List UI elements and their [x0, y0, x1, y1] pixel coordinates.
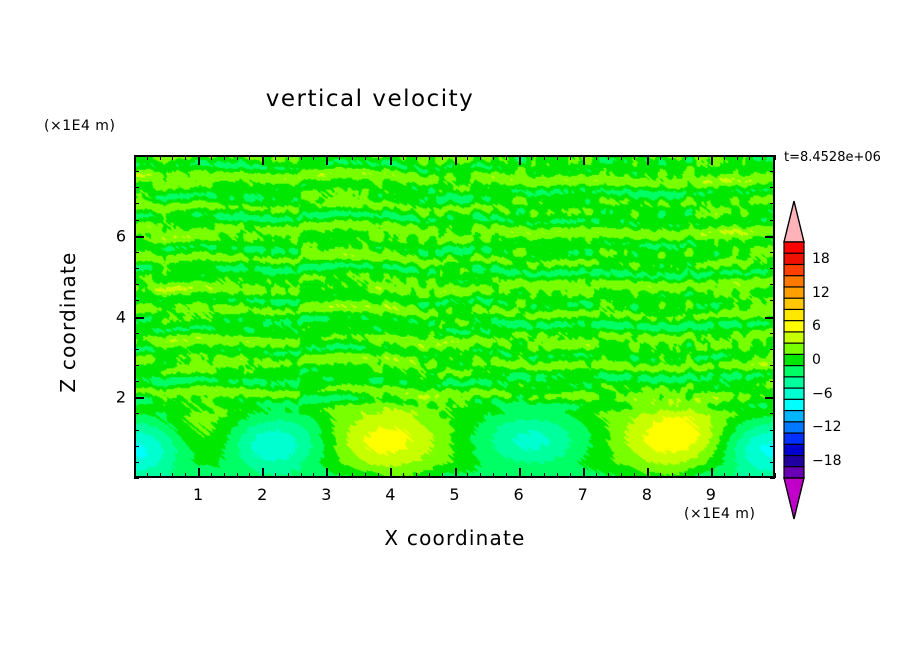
axis-tick: [211, 473, 212, 478]
colorbar-tick-label: 18: [812, 251, 830, 267]
axis-tick: [455, 468, 457, 478]
axis-tick: [770, 478, 775, 479]
axis-tick: [775, 155, 776, 160]
axis-tick: [724, 473, 725, 478]
axis-tick: [770, 171, 775, 172]
page-title: vertical velocity: [0, 86, 740, 112]
axis-tick: [134, 236, 144, 238]
x-tick-label: 5: [449, 485, 459, 504]
axis-tick: [770, 220, 775, 221]
colorbar-tick-label: 0: [812, 352, 821, 368]
axis-tick: [134, 413, 139, 414]
colorbar-band: [784, 366, 804, 378]
axis-tick: [288, 155, 289, 160]
colorbar-band: [784, 354, 804, 366]
axis-tick: [442, 155, 443, 160]
colorbar-tick-label: −18: [812, 453, 842, 469]
axis-tick: [724, 155, 725, 160]
axis-tick: [765, 397, 775, 399]
colorbar-band: [784, 433, 804, 445]
x-tick-label: 4: [385, 485, 395, 504]
axis-tick: [160, 473, 161, 478]
axis-tick: [211, 155, 212, 160]
axis-tick: [262, 155, 264, 165]
axis-tick: [378, 155, 379, 160]
axis-tick: [531, 155, 532, 160]
axis-tick: [172, 155, 173, 160]
axis-tick: [531, 473, 532, 478]
axis-tick: [403, 473, 404, 478]
axis-tick: [390, 468, 392, 478]
axis-tick: [480, 155, 481, 160]
x-axis-title: X coordinate: [255, 526, 655, 550]
colorbar-tick-label: 12: [812, 285, 830, 301]
axis-tick: [544, 473, 545, 478]
axis-tick: [185, 473, 186, 478]
axis-tick: [506, 473, 507, 478]
axis-tick: [326, 468, 328, 478]
plot-area: [134, 155, 775, 478]
axis-tick: [237, 155, 238, 160]
colorbar-band: [784, 309, 804, 321]
x-tick-label: 3: [321, 485, 331, 504]
colorbar: [781, 200, 807, 520]
colorbar-over-arrow: [784, 201, 804, 242]
axis-tick: [365, 473, 366, 478]
axis-tick: [288, 473, 289, 478]
y-tick-label: 2: [106, 388, 126, 407]
axis-tick: [134, 430, 139, 431]
axis-tick: [134, 333, 139, 334]
axis-tick: [698, 473, 699, 478]
axis-tick: [134, 381, 139, 382]
axis-tick: [770, 333, 775, 334]
axis-tick: [134, 268, 139, 269]
axis-tick: [224, 155, 225, 160]
axis-tick: [301, 155, 302, 160]
axis-tick: [249, 155, 250, 160]
axis-tick: [147, 473, 148, 478]
axis-tick: [672, 155, 673, 160]
colorbar-band: [784, 467, 804, 479]
axis-tick: [493, 155, 494, 160]
axis-tick: [134, 155, 135, 160]
colorbar-band: [784, 321, 804, 333]
axis-tick: [429, 155, 430, 160]
y-tick-label: 6: [106, 226, 126, 245]
colorbar-band: [784, 253, 804, 265]
axis-tick: [134, 171, 139, 172]
colorbar-band: [784, 343, 804, 355]
axis-tick: [557, 473, 558, 478]
axis-tick: [621, 473, 622, 478]
axis-tick: [634, 473, 635, 478]
axis-tick: [467, 473, 468, 478]
axis-tick: [467, 155, 468, 160]
axis-tick: [544, 155, 545, 160]
axis-tick: [583, 468, 585, 478]
axis-tick: [442, 473, 443, 478]
colorbar-band: [784, 411, 804, 423]
y-axis-unit-label: (×1E4 m): [44, 118, 115, 134]
axis-tick: [352, 473, 353, 478]
axis-tick: [249, 473, 250, 478]
axis-tick: [275, 155, 276, 160]
axis-tick: [762, 473, 763, 478]
axis-tick: [711, 468, 713, 478]
colorbar-band: [784, 242, 804, 254]
axis-tick: [339, 155, 340, 160]
axis-tick: [134, 220, 139, 221]
axis-tick: [480, 473, 481, 478]
colorbar-band: [784, 422, 804, 434]
axis-tick: [237, 473, 238, 478]
axis-tick: [770, 413, 775, 414]
axis-tick: [134, 446, 139, 447]
axis-tick: [770, 300, 775, 301]
axis-tick: [301, 473, 302, 478]
colorbar-tick-label: −12: [812, 419, 842, 435]
axis-tick: [198, 468, 200, 478]
axis-tick: [160, 155, 161, 160]
x-tick-label: 9: [706, 485, 716, 504]
axis-tick: [596, 473, 597, 478]
axis-tick: [557, 155, 558, 160]
axis-tick: [711, 155, 713, 165]
x-tick-label: 8: [642, 485, 652, 504]
axis-tick: [262, 468, 264, 478]
contour-plot-figure: vertical velocity (×1E4 m) (×1E4 m) X co…: [0, 0, 904, 654]
axis-tick: [770, 203, 775, 204]
axis-tick: [134, 300, 139, 301]
colorbar-under-arrow: [784, 478, 804, 519]
axis-tick: [339, 473, 340, 478]
x-tick-label: 2: [257, 485, 267, 504]
axis-tick: [390, 155, 392, 165]
axis-tick: [770, 381, 775, 382]
axis-tick: [326, 155, 328, 165]
axis-tick: [493, 473, 494, 478]
axis-tick: [134, 317, 144, 319]
axis-tick: [770, 284, 775, 285]
axis-tick: [608, 473, 609, 478]
axis-tick: [685, 473, 686, 478]
axis-tick: [762, 155, 763, 160]
axis-tick: [455, 155, 457, 165]
axis-tick: [147, 155, 148, 160]
axis-tick: [134, 478, 139, 479]
colorbar-band: [784, 264, 804, 276]
colorbar-band: [784, 276, 804, 288]
axis-tick: [634, 155, 635, 160]
axis-tick: [621, 155, 622, 160]
axis-tick: [647, 155, 649, 165]
axis-tick: [749, 473, 750, 478]
axis-tick: [770, 187, 775, 188]
axis-tick: [570, 473, 571, 478]
axis-tick: [749, 155, 750, 160]
x-axis-unit-label: (×1E4 m): [684, 506, 755, 522]
colorbar-band: [784, 388, 804, 400]
axis-tick: [275, 473, 276, 478]
axis-tick: [583, 155, 585, 165]
axis-tick: [770, 462, 775, 463]
axis-tick: [416, 473, 417, 478]
axis-tick: [770, 252, 775, 253]
colorbar-band: [784, 298, 804, 310]
axis-tick: [198, 155, 200, 165]
axis-tick: [378, 473, 379, 478]
axis-tick: [608, 155, 609, 160]
velocity-field-canvas: [136, 157, 773, 476]
axis-tick: [596, 155, 597, 160]
axis-tick: [660, 155, 661, 160]
y-axis-title: Z coordinate: [56, 192, 80, 452]
y-tick-label: 4: [106, 307, 126, 326]
colorbar-tick-label: −6: [812, 386, 833, 402]
colorbar-band: [784, 399, 804, 411]
colorbar-band: [784, 444, 804, 456]
axis-tick: [685, 155, 686, 160]
axis-tick: [765, 236, 775, 238]
axis-tick: [770, 268, 775, 269]
axis-tick: [770, 430, 775, 431]
axis-tick: [519, 468, 521, 478]
time-annotation: t=8.4528e+06: [784, 150, 881, 165]
axis-tick: [775, 473, 776, 478]
axis-tick: [134, 284, 139, 285]
axis-tick: [185, 155, 186, 160]
colorbar-band: [784, 332, 804, 344]
axis-tick: [737, 473, 738, 478]
axis-tick: [570, 155, 571, 160]
axis-tick: [765, 317, 775, 319]
axis-tick: [672, 473, 673, 478]
axis-tick: [770, 446, 775, 447]
axis-tick: [737, 155, 738, 160]
axis-tick: [134, 187, 139, 188]
axis-tick: [506, 155, 507, 160]
axis-tick: [403, 155, 404, 160]
colorbar-band: [784, 456, 804, 468]
axis-tick: [134, 397, 144, 399]
axis-tick: [172, 473, 173, 478]
axis-tick: [429, 473, 430, 478]
x-tick-label: 1: [193, 485, 203, 504]
axis-tick: [660, 473, 661, 478]
colorbar-band: [784, 287, 804, 299]
colorbar-tick-label: 6: [812, 318, 821, 334]
axis-tick: [134, 252, 139, 253]
axis-tick: [770, 365, 775, 366]
axis-tick: [698, 155, 699, 160]
colorbar-swatches: [781, 200, 807, 520]
axis-tick: [224, 473, 225, 478]
axis-tick: [647, 468, 649, 478]
axis-tick: [313, 155, 314, 160]
x-tick-label: 6: [514, 485, 524, 504]
x-tick-label: 7: [578, 485, 588, 504]
axis-tick: [313, 473, 314, 478]
colorbar-band: [784, 377, 804, 389]
axis-tick: [134, 349, 139, 350]
axis-tick: [770, 349, 775, 350]
axis-tick: [365, 155, 366, 160]
axis-tick: [352, 155, 353, 160]
axis-tick: [134, 365, 139, 366]
axis-tick: [134, 462, 139, 463]
axis-tick: [416, 155, 417, 160]
axis-tick: [519, 155, 521, 165]
axis-tick: [134, 203, 139, 204]
